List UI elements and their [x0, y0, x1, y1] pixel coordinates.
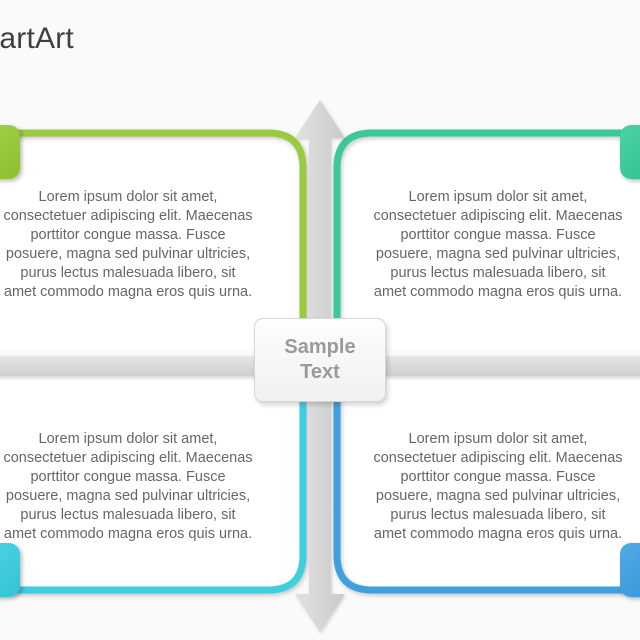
- center-label-box[interactable]: Sample Text: [254, 318, 386, 402]
- smartart-canvas: SmartArt: [0, 0, 640, 640]
- tab-chip-teal[interactable]: [620, 125, 640, 179]
- tab-chip-cyan[interactable]: [0, 543, 20, 597]
- tab-chip-green[interactable]: [0, 125, 20, 179]
- quadrant-body-bottom-right: Lorem ipsum dolor sit amet, consectetuer…: [358, 430, 638, 544]
- quadrant-body-top-left: Lorem ipsum dolor sit amet, consectetuer…: [0, 188, 268, 302]
- center-label-text: Sample Text: [284, 335, 355, 385]
- quadrant-body-bottom-left: Lorem ipsum dolor sit amet, consectetuer…: [0, 430, 268, 544]
- quadrant-body-top-right: Lorem ipsum dolor sit amet, consectetuer…: [358, 188, 638, 302]
- tab-chip-blue[interactable]: [620, 543, 640, 597]
